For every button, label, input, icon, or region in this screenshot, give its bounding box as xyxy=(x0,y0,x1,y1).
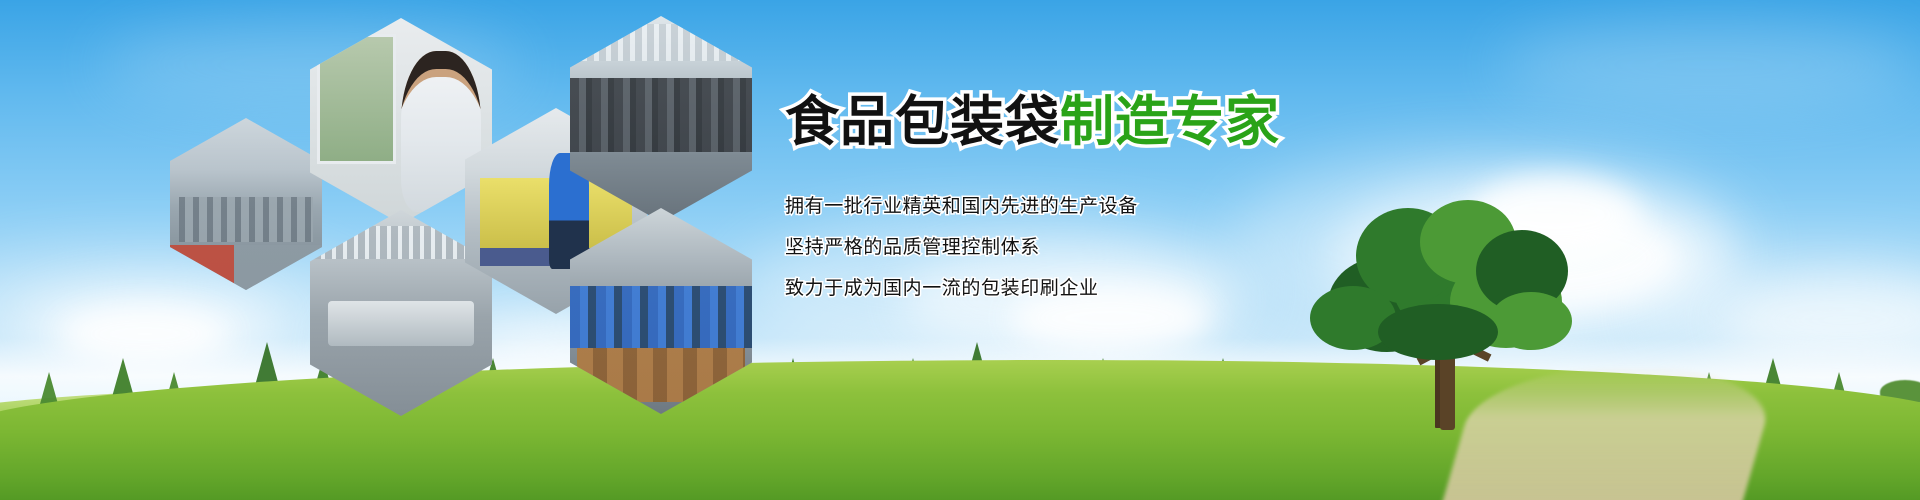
headline-part-product: 食品包装袋 xyxy=(785,92,1060,152)
banner-headline: 食品包装袋制造专家 xyxy=(785,95,1505,149)
warehouse-aisle-photo[interactable] xyxy=(170,118,322,290)
banner-copy: 食品包装袋制造专家 拥有一批行业精英和国内先进的生产设备 坚持严格的品质管理控制… xyxy=(785,95,1505,300)
photo-image xyxy=(310,18,492,224)
lab-inspection-photo[interactable] xyxy=(310,18,492,224)
hexagon-photo-cluster xyxy=(170,18,790,368)
photo-image xyxy=(170,118,322,290)
cloud-shape xyxy=(1500,20,1920,110)
banner-subline-2: 坚持严格的品质管理控制体系 xyxy=(785,232,1505,259)
banner-subline-1: 拥有一批行业精英和国内先进的生产设备 xyxy=(785,191,1505,218)
hero-banner: 食品包装袋制造专家 拥有一批行业精英和国内先进的生产设备 坚持严格的品质管理控制… xyxy=(0,0,1920,500)
banner-subline-3: 致力于成为国内一流的包装印刷企业 xyxy=(785,273,1505,300)
headline-part-expert: 制造专家 xyxy=(1060,92,1280,152)
